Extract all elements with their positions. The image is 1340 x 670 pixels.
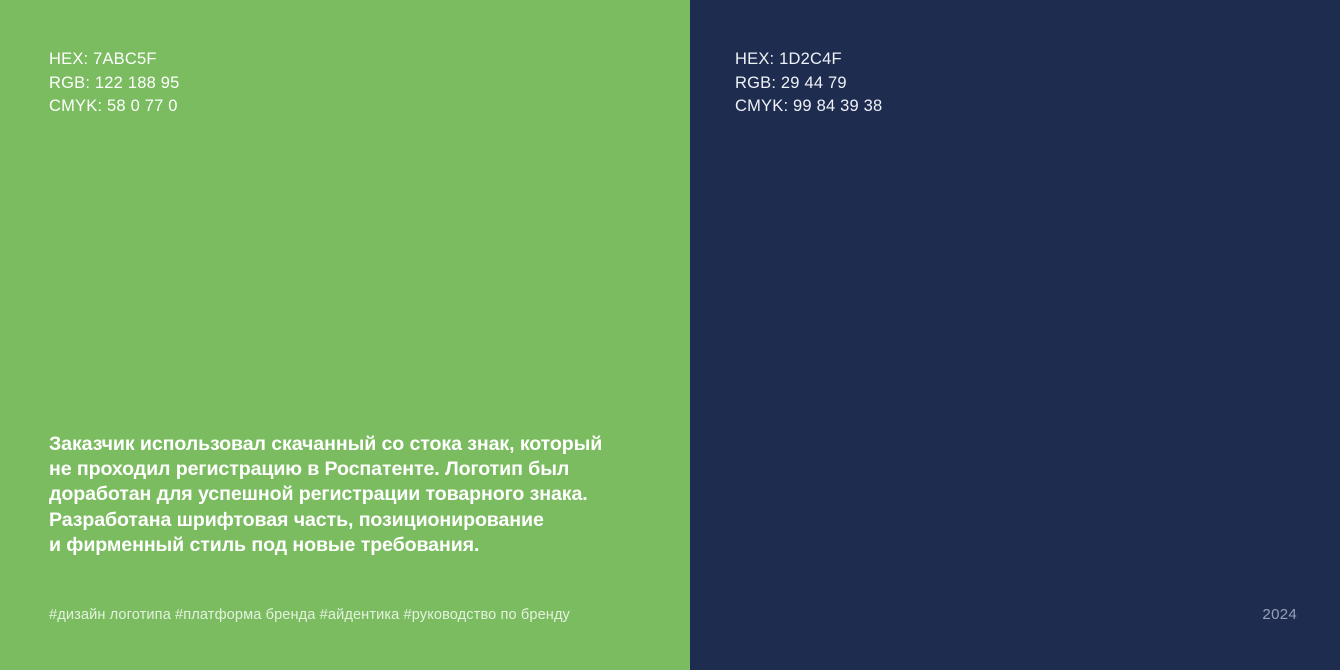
navy-swatch-spec: HEX: 1D2C4F RGB: 29 44 79 CMYK: 99 84 39… <box>735 48 882 119</box>
case-description-line: и фирменный стиль под новые требования. <box>49 533 690 558</box>
case-description-line: доработан для успешной регистрации товар… <box>49 482 690 507</box>
navy-hex-line: HEX: 1D2C4F <box>735 48 882 72</box>
navy-color-panel: HEX: 1D2C4F RGB: 29 44 79 CMYK: 99 84 39… <box>690 0 1340 670</box>
brand-color-slide: HEX: 7ABC5F RGB: 122 188 95 CMYK: 58 0 7… <box>0 0 1340 670</box>
green-rgb-line: RGB: 122 188 95 <box>49 72 180 96</box>
green-swatch-spec: HEX: 7ABC5F RGB: 122 188 95 CMYK: 58 0 7… <box>49 48 180 119</box>
green-color-panel: HEX: 7ABC5F RGB: 122 188 95 CMYK: 58 0 7… <box>0 0 690 670</box>
case-description: Заказчик использовал скачанный со стока … <box>49 432 690 558</box>
green-cmyk-line: CMYK: 58 0 77 0 <box>49 95 180 119</box>
hashtag-list: #дизайн логотипа #платформа бренда #айде… <box>49 605 570 625</box>
case-description-line: Разработана шрифтовая часть, позициониро… <box>49 508 690 533</box>
year-label: 2024 <box>1262 605 1297 625</box>
case-description-line: не проходил регистрацию в Роспатенте. Ло… <box>49 457 690 482</box>
case-description-line: Заказчик использовал скачанный со стока … <box>49 432 690 457</box>
navy-cmyk-line: CMYK: 99 84 39 38 <box>735 95 882 119</box>
navy-rgb-line: RGB: 29 44 79 <box>735 72 882 96</box>
green-hex-line: HEX: 7ABC5F <box>49 48 180 72</box>
